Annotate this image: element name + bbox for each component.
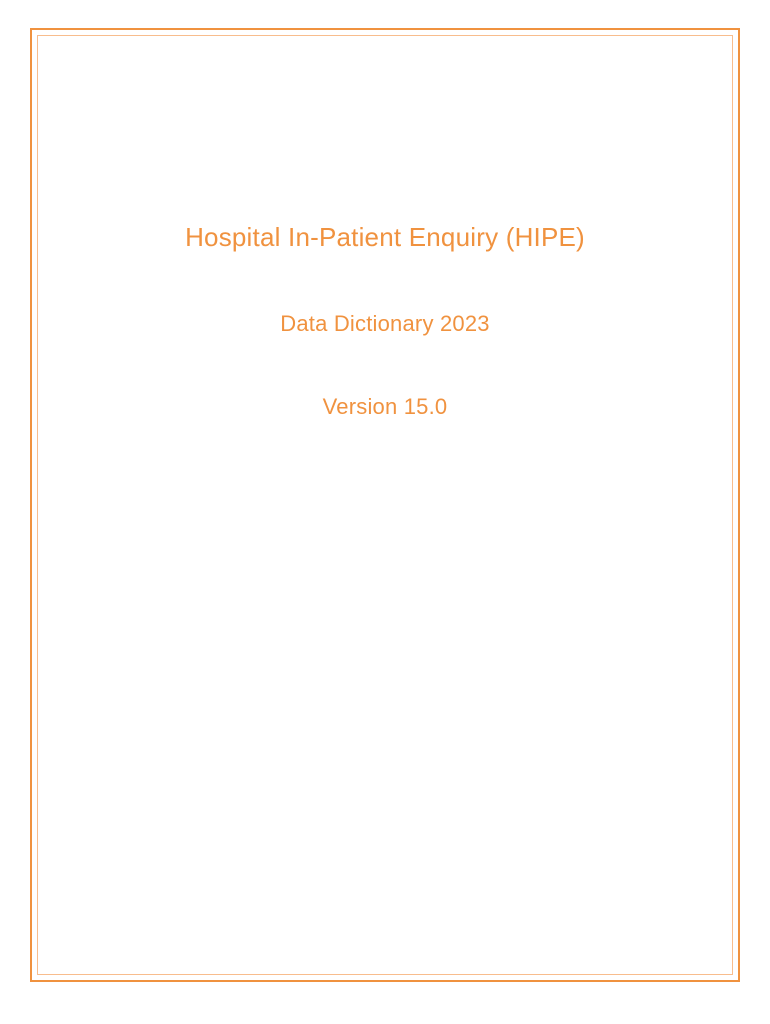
document-cover-page: Hospital In-Patient Enquiry (HIPE) Data … <box>0 0 770 1024</box>
document-title: Hospital In-Patient Enquiry (HIPE) <box>48 222 722 253</box>
cover-blank-area <box>48 470 722 970</box>
document-version: Version 15.0 <box>48 394 722 420</box>
cover-title-block: Hospital In-Patient Enquiry (HIPE) Data … <box>48 222 722 420</box>
document-subtitle: Data Dictionary 2023 <box>48 311 722 337</box>
